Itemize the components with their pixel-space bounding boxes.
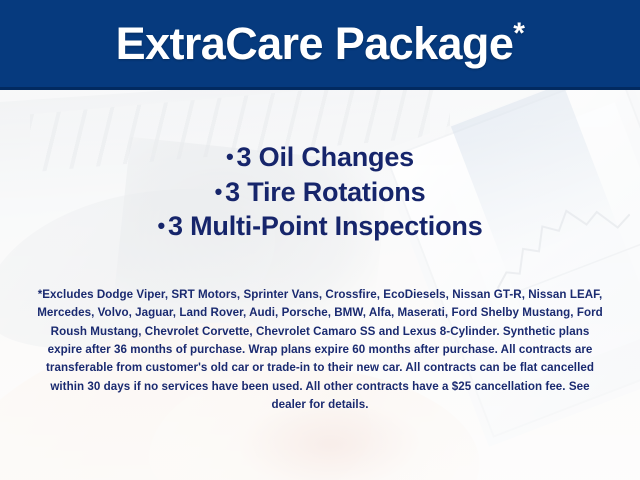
benefit-label: 3 Tire Rotations	[225, 177, 425, 207]
page-title-text: ExtraCare Package	[116, 18, 514, 69]
page-title: ExtraCare Package*	[116, 21, 525, 66]
bullet-icon: •	[157, 213, 165, 238]
benefit-item-oil-changes: •3 Oil Changes	[0, 140, 640, 175]
bullet-icon: •	[226, 144, 234, 169]
header-bar: ExtraCare Package*	[0, 0, 640, 90]
title-asterisk: *	[513, 17, 524, 50]
bullet-icon: •	[215, 179, 223, 204]
benefit-label: 3 Oil Changes	[237, 142, 414, 172]
benefit-label: 3 Multi-Point Inspections	[168, 211, 483, 241]
benefits-list: •3 Oil Changes •3 Tire Rotations •3 Mult…	[0, 140, 640, 244]
benefit-item-multi-point-inspections: •3 Multi-Point Inspections	[0, 209, 640, 244]
disclaimer-text: *Excludes Dodge Viper, SRT Motors, Sprin…	[32, 286, 608, 414]
extracare-promo-banner: ExtraCare Package* •3 Oil Changes •3 Tir…	[0, 0, 640, 480]
benefit-item-tire-rotations: •3 Tire Rotations	[0, 175, 640, 210]
